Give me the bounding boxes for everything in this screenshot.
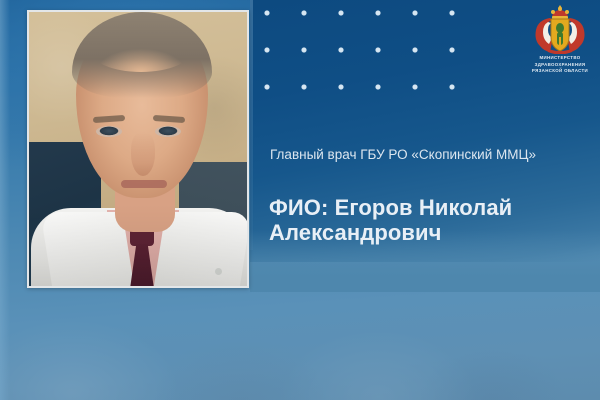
emblem-text-line1: МИНИСТЕРСТВО [524,55,596,61]
photo-forehead-highlight [89,26,193,72]
coat-of-arms-icon [532,4,588,54]
portrait-photo [27,10,249,288]
emblem-text-line3: РЯЗАНСКОЙ ОБЛАСТИ [524,68,596,74]
portrait-photo-canvas [29,12,247,286]
photo-mouth [121,180,167,188]
dot-grid-decoration [264,10,474,110]
position-subtitle: Главный врач ГБУ РО «Скопинский ММЦ» [270,146,586,163]
person-name-headline: ФИО: Егоров Николай Александрович [269,195,589,245]
headline-line-1: ФИО: Егоров Николай [269,195,589,220]
headline-line-2: Александрович [269,220,589,245]
photo-eye-right [155,126,181,137]
emblem-text-line2: ЗДРАВООХРАНЕНИЯ [524,62,596,68]
ministry-emblem: МИНИСТЕРСТВО ЗДРАВООХРАНЕНИЯ РЯЗАНСКОЙ О… [524,4,596,80]
navy-panel-left-seam [250,0,253,250]
photo-eye-left [96,126,122,137]
photo-nose [131,132,155,176]
slide-canvas: МИНИСТЕРСТВО ЗДРАВООХРАНЕНИЯ РЯЗАНСКОЙ О… [0,0,600,400]
photo-coat-button [215,268,222,275]
